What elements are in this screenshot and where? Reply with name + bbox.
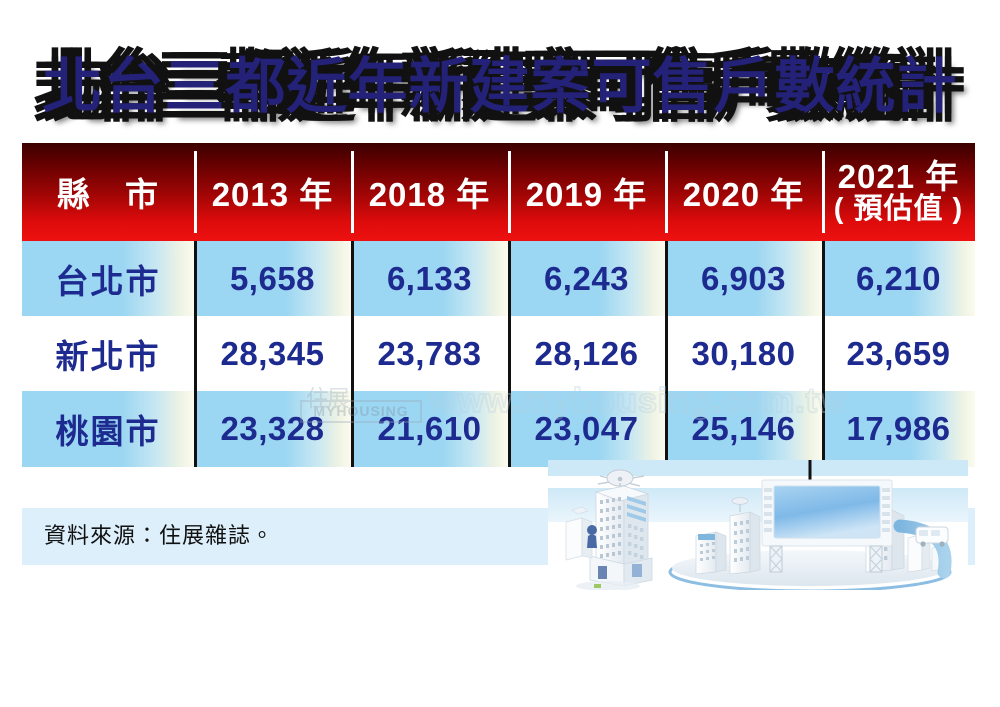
column-header-2021-sublabel: ( 預估值 ) <box>822 195 975 225</box>
cell-taoyuan-2019: 23,047 <box>508 391 665 467</box>
column-header-2020-label: 2020 年 <box>683 176 805 213</box>
table-row: 桃園市 23,328 21,610 23,047 25,146 17,986 <box>22 391 975 467</box>
column-header-2019: 2019 年 <box>508 143 665 241</box>
column-header-2018-label: 2018 年 <box>369 176 491 213</box>
column-header-city-label: 縣 市 <box>57 176 159 213</box>
column-header-2021-label: 2021 年 <box>822 160 975 195</box>
column-header-2013: 2013 年 <box>194 143 351 241</box>
cell-taoyuan-2018: 21,610 <box>351 391 508 467</box>
column-header-2020: 2020 年 <box>665 143 822 241</box>
table-head: 縣 市 2013 年 2018 年 2019 年 2020 年 2021 年 (… <box>22 143 975 241</box>
cell-new-taipei-2020: 30,180 <box>665 316 822 391</box>
greenery <box>594 584 601 588</box>
satellite-dish-icon <box>598 470 644 491</box>
cell-new-taipei-2019: 28,126 <box>508 316 665 391</box>
page-title: 北台三都近年新建案可售戶數統計 <box>0 50 1000 132</box>
source-note-text: 資料來源：住展雜誌。 <box>44 508 274 565</box>
cell-taipei-2021: 6,210 <box>822 241 975 316</box>
cell-taipei-2018: 6,133 <box>351 241 508 316</box>
cell-taipei-2019: 6,243 <box>508 241 665 316</box>
cell-new-taipei-2021: 23,659 <box>822 316 975 391</box>
cell-new-taipei-2013: 28,345 <box>194 316 351 391</box>
column-header-2019-label: 2019 年 <box>526 176 648 213</box>
column-header-city: 縣 市 <box>22 143 194 241</box>
cell-city-new-taipei: 新北市 <box>22 316 194 391</box>
infographic-canvas: 北台三都近年新建案可售戶數統計 縣 市 2013 年 2018 年 2019 年… <box>0 0 1000 707</box>
cell-taipei-2020: 6,903 <box>665 241 822 316</box>
cell-city-taipei: 台北市 <box>22 241 194 316</box>
table-body: 台北市 5,658 6,133 6,243 6,903 6,210 新北市 28… <box>22 241 975 467</box>
page-title-text: 北台三都近年新建案可售戶數統計 <box>43 50 958 124</box>
cell-taoyuan-2021: 17,986 <box>822 391 975 467</box>
column-header-2021: 2021 年 ( 預估值 ) <box>822 143 975 241</box>
statistics-table: 縣 市 2013 年 2018 年 2019 年 2020 年 2021 年 (… <box>22 143 975 467</box>
table-row: 新北市 28,345 23,783 28,126 30,180 23,659 <box>22 316 975 391</box>
table-header-row: 縣 市 2013 年 2018 年 2019 年 2020 年 2021 年 (… <box>22 143 975 241</box>
cell-taoyuan-2020: 25,146 <box>665 391 822 467</box>
cell-taipei-2013: 5,658 <box>194 241 351 316</box>
column-header-2013-label: 2013 年 <box>212 176 334 213</box>
cell-new-taipei-2018: 23,783 <box>351 316 508 391</box>
cell-taoyuan-2013: 23,328 <box>194 391 351 467</box>
column-header-2018: 2018 年 <box>351 143 508 241</box>
source-note-band: 資料來源：住展雜誌。 <box>22 508 975 565</box>
table-row: 台北市 5,658 6,133 6,243 6,903 6,210 <box>22 241 975 316</box>
cell-city-taoyuan: 桃園市 <box>22 391 194 467</box>
